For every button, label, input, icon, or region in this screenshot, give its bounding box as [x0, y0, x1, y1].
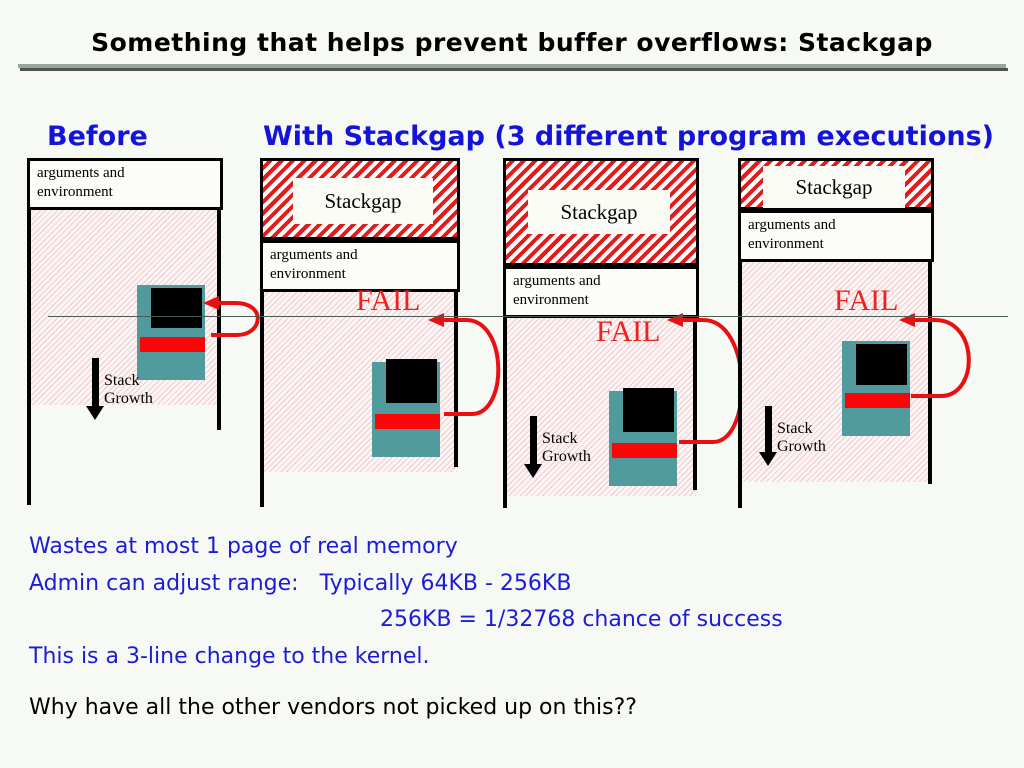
stack-growth-label: Stack Growth	[542, 430, 591, 466]
fail-label-execution-1: FAIL	[356, 284, 420, 318]
diagram-column-execution-3: Stackgap arguments and environment FAIL …	[738, 158, 934, 508]
left-rail-before	[27, 210, 31, 505]
stackgap-label: Stackgap	[763, 166, 905, 208]
stack-growth-label: Stack Growth	[104, 372, 153, 408]
stack-growth-arrowhead	[524, 464, 542, 478]
overflow-loop-arrow-execution-3	[893, 306, 1003, 416]
stack-growth-shaft	[530, 416, 537, 466]
diagram-column-execution-1: Stackgap arguments and environment FAIL	[260, 158, 460, 508]
stack-growth-arrowhead	[86, 406, 104, 420]
stack-growth-label: Stack Growth	[777, 420, 826, 456]
stackgap-band-execution-1: Stackgap	[260, 158, 460, 240]
slide-canvas: Something that helps prevent buffer over…	[0, 0, 1024, 768]
left-rail-execution-1	[260, 292, 264, 507]
args-env-label: arguments and environment	[513, 272, 696, 310]
stack-growth-shaft	[765, 406, 772, 454]
note-line-1: Wastes at most 1 page of real memory	[29, 534, 458, 559]
note-line-4: This is a 3-line change to the kernel.	[29, 644, 430, 669]
stackgap-label: Stackgap	[528, 190, 670, 234]
note-line-2: Admin can adjust range: Typically 64KB -…	[29, 571, 571, 596]
overflow-reference-line	[48, 316, 1008, 317]
stackgap-label: Stackgap	[293, 178, 433, 224]
args-env-label: arguments and environment	[37, 164, 220, 202]
title-divider	[18, 64, 1006, 68]
column-heading-with-stackgap: With Stackgap (3 different program execu…	[263, 121, 994, 152]
stackgap-band-execution-3: Stackgap	[738, 158, 934, 210]
stackgap-band-execution-2: Stackgap	[503, 158, 699, 266]
column-heading-before: Before	[47, 121, 148, 152]
args-env-label: arguments and environment	[270, 246, 457, 284]
note-line-5: Why have all the other vendors not picke…	[29, 695, 637, 720]
diagram-column-execution-2: Stackgap arguments and environment FAIL …	[503, 158, 699, 508]
stack-growth-arrowhead	[759, 452, 777, 466]
left-rail-execution-3	[738, 262, 742, 508]
diagram-column-before: arguments and environment Stack Growth	[27, 158, 223, 508]
stack-growth-shaft	[92, 358, 99, 408]
left-rail-execution-2	[503, 318, 507, 508]
fail-label-execution-2: FAIL	[596, 315, 660, 349]
args-env-box-before: arguments and environment	[27, 158, 223, 210]
slide-title: Something that helps prevent buffer over…	[0, 28, 1024, 57]
args-env-box-execution-3: arguments and environment	[738, 210, 934, 262]
args-env-label: arguments and environment	[748, 216, 931, 254]
note-line-3: 256KB = 1/32768 chance of success	[380, 607, 783, 632]
fail-label-execution-3: FAIL	[834, 284, 898, 318]
